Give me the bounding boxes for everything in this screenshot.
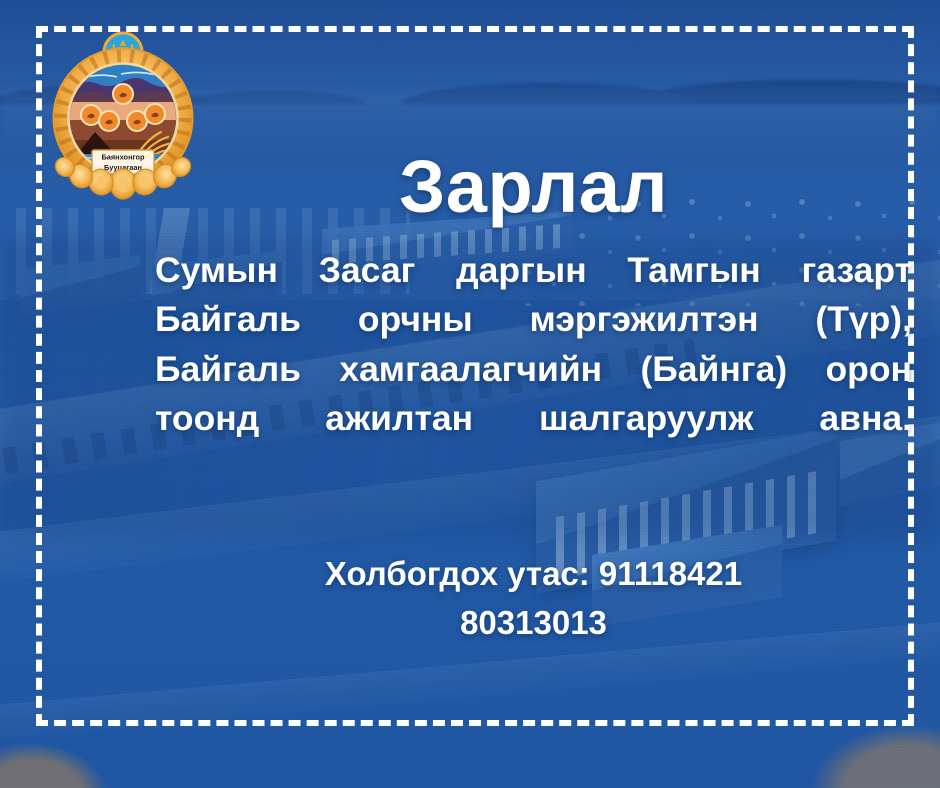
contact-primary-line: Холбогдох утас: 91118421 [155,549,912,599]
page-title: Зарлал [155,150,912,224]
contact-block: Холбогдох утас: 91118421 80313013 [155,549,912,648]
emblem-banner-line-1: Баянхонгор [101,153,145,162]
poster-content: Зарлал Сумын Засаг даргын Тамгын газарт … [155,150,912,648]
announcement-poster: Баянхонгор Бууцагаан Зарлал Сумын З [0,0,940,788]
contact-secondary-phone: 80313013 [155,598,912,648]
announcement-body: Сумын Засаг даргын Тамгын газарт Байгаль… [155,246,912,493]
